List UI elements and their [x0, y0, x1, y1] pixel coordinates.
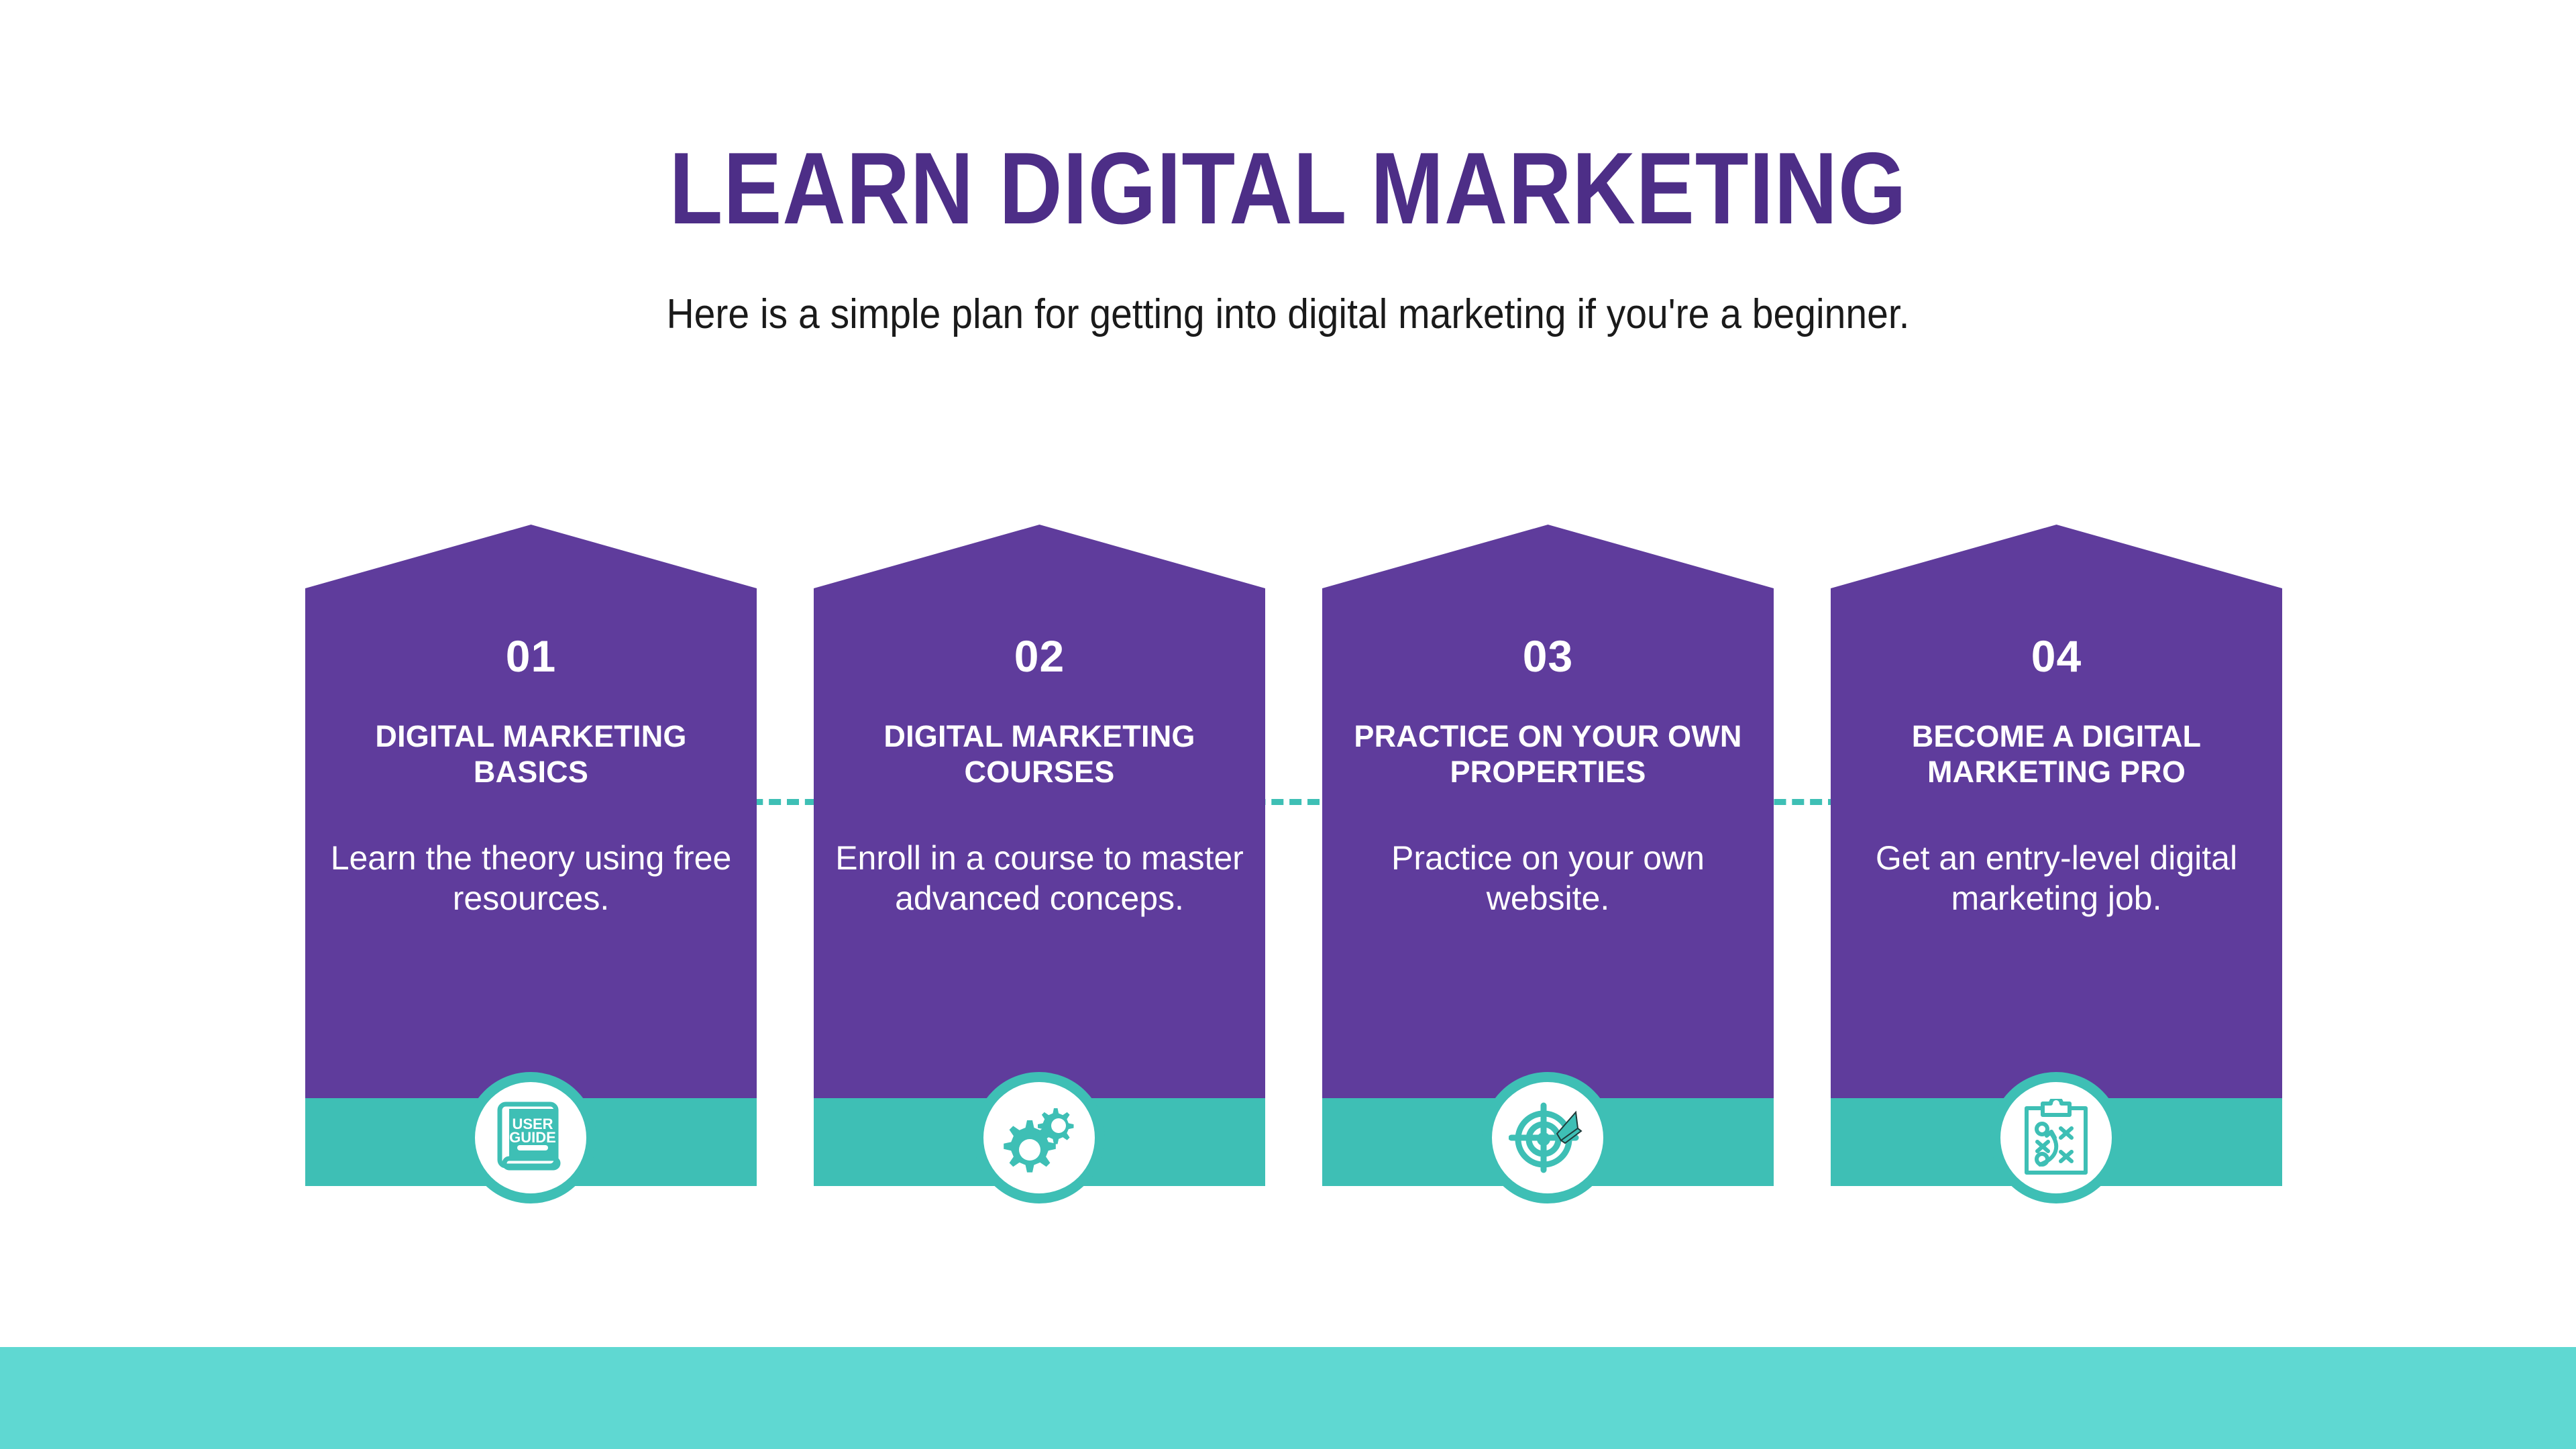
step-heading: PRACTICE ON YOUR OWN PROPERTIES	[1345, 719, 1751, 790]
icon-badge-4[interactable]	[1990, 1072, 2122, 1203]
step-number: 04	[1831, 634, 2282, 678]
step-description: Get an entry-level digital marketing job…	[1851, 839, 2262, 918]
timeline-connector	[0, 376, 2576, 483]
target-arrow-icon	[1509, 1100, 1587, 1175]
step-heading: BECOME A DIGITAL MARKETING PRO	[1854, 719, 2259, 790]
page-subtitle: Here is a simple plan for getting into d…	[103, 294, 2473, 335]
icon-badge-1[interactable]: USER GUIDE	[465, 1072, 596, 1203]
user-guide-book-icon: USER GUIDE	[496, 1101, 566, 1175]
gears-icon	[1002, 1103, 1077, 1173]
step-description: Learn the theory using free resources.	[325, 839, 737, 918]
icon-badge-3[interactable]	[1482, 1072, 1613, 1203]
infographic-canvas: LEARN DIGITAL MARKETING Here is a simple…	[0, 0, 2576, 1449]
step-number: 03	[1322, 634, 1774, 678]
svg-text:GUIDE: GUIDE	[509, 1129, 556, 1146]
page-title: LEARN DIGITAL MARKETING	[180, 138, 2396, 239]
step-heading: DIGITAL MARKETING BASICS	[328, 719, 734, 790]
step-description: Enroll in a course to master advanced co…	[834, 839, 1245, 918]
step-description: Practice on your own website.	[1342, 839, 1754, 918]
icon-badge-2[interactable]	[973, 1072, 1105, 1203]
step-number: 02	[814, 634, 1265, 678]
step-heading: DIGITAL MARKETING COURSES	[837, 719, 1242, 790]
step-number: 01	[305, 634, 757, 678]
bottom-accent-bar	[0, 1347, 2576, 1449]
strategy-clipboard-icon	[2023, 1099, 2090, 1177]
